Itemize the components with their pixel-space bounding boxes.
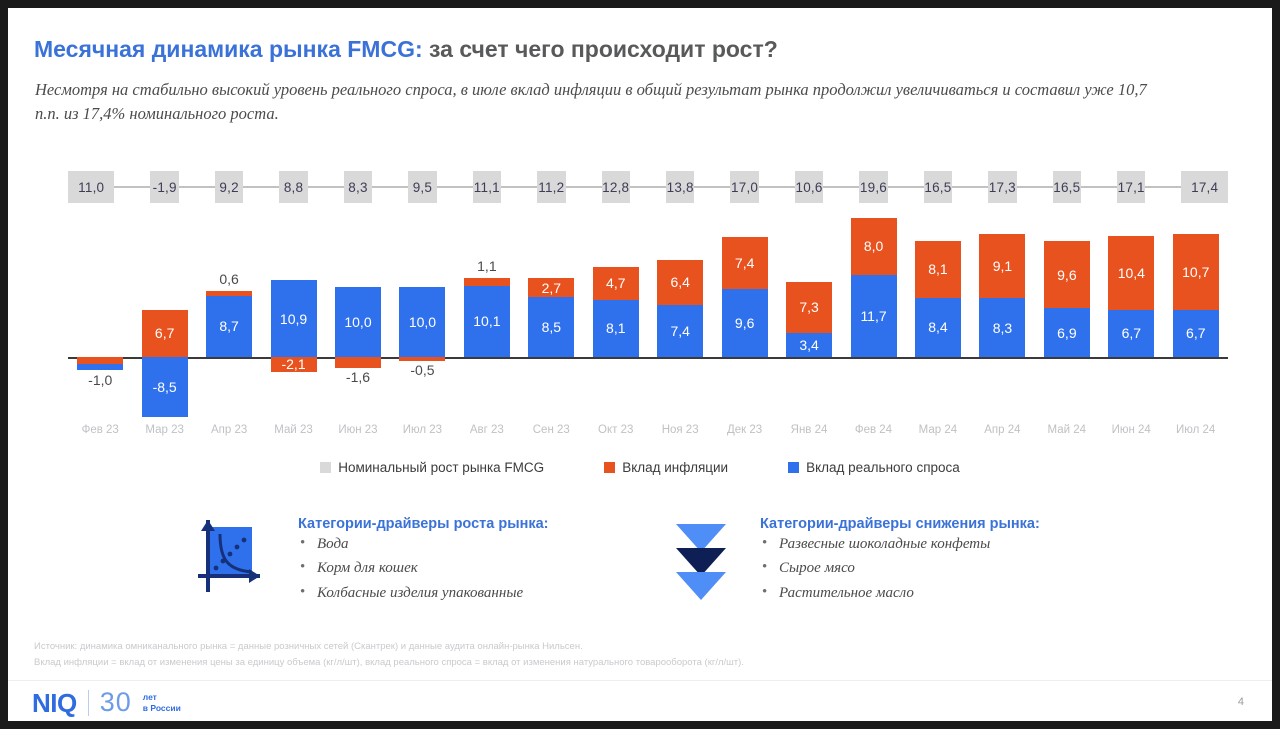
inflation-segment-label: -2,1 [281, 357, 305, 371]
legend-swatch-icon [320, 462, 331, 473]
inflation-segment [399, 357, 445, 361]
footer-divider [8, 680, 1272, 681]
real-demand-segment: 8,7 [206, 296, 252, 357]
inflation-segment-label: 6,4 [670, 275, 689, 289]
inflation-segment-label: 9,1 [993, 259, 1012, 273]
list-item: Сырое мясо [760, 556, 1040, 580]
real-demand-segment-label: 8,3 [993, 321, 1012, 335]
logo-divider [88, 690, 89, 716]
bar-column: 7,46,4 [648, 213, 712, 413]
inflation-segment: 7,3 [786, 282, 832, 333]
nominal-growth-box: 19,6 [859, 171, 887, 203]
stacked-bar-chart: -1,06,7-8,58,70,610,9-2,110,0-1,610,0-0,… [68, 213, 1228, 413]
nominal-growth-box: -1,9 [150, 171, 178, 203]
legend-item[interactable]: Вклад инфляции [604, 460, 728, 475]
x-axis-label: Май 24 [1035, 424, 1099, 436]
x-axis-label: Июл 24 [1163, 424, 1227, 436]
nominal-connector [132, 186, 150, 188]
chart-legend: Номинальный рост рынка FMCGВклад инфляци… [8, 460, 1272, 475]
inflation-outside-label: 0,6 [219, 272, 238, 286]
bar-stack: 8,39,1 [979, 213, 1025, 413]
x-axis-labels: Фев 23Мар 23Апр 23Май 23Июн 23Июл 23Авг … [68, 424, 1228, 436]
nominal-growth-box: 8,8 [279, 171, 307, 203]
legend-label: Вклад инфляции [622, 460, 728, 475]
nominal-growth-box: 8,3 [344, 171, 372, 203]
bar-column: 6,710,4 [1099, 213, 1163, 413]
x-axis-label: Июн 24 [1099, 424, 1163, 436]
nominal-connector [648, 186, 666, 188]
nominal-growth-box: 11,0 [68, 171, 114, 203]
legend-item[interactable]: Вклад реального спроса [788, 460, 960, 475]
nominal-connector [1163, 186, 1181, 188]
real-demand-segment [77, 364, 123, 370]
anniversary-caption-line-2: в России [143, 703, 181, 713]
bar-column: 8,39,1 [970, 213, 1034, 413]
decline-drivers-list: Развесные шоколадные конфетыСырое мясоРа… [760, 532, 1040, 605]
real-demand-segment: 9,6 [722, 289, 768, 357]
real-demand-segment-label: 8,5 [542, 320, 561, 334]
nominal-connector [759, 186, 777, 188]
bar-stack: 8,48,1 [915, 213, 961, 413]
growth-drivers-list: ВодаКорм для кошекКолбасные изделия упак… [298, 532, 549, 605]
inflation-segment: 8,1 [915, 241, 961, 298]
nominal-connector [841, 186, 859, 188]
x-axis-label: Авг 23 [455, 424, 519, 436]
inflation-outside-label: 1,1 [477, 259, 496, 273]
bar-column: -1,0 [68, 213, 132, 413]
nominal-connector [694, 186, 712, 188]
x-axis-label: Май 23 [261, 424, 325, 436]
anniversary-number: 30 [100, 689, 132, 716]
real-demand-segment: 10,0 [399, 287, 445, 358]
bar-column: 11,78,0 [841, 213, 905, 413]
legend-swatch-icon [604, 462, 615, 473]
nominal-connector [308, 186, 326, 188]
real-demand-segment-label: 10,1 [473, 314, 500, 328]
real-demand-segment-label: 10,9 [280, 312, 307, 326]
real-demand-segment: 8,4 [915, 298, 961, 357]
nominal-growth-box: 17,4 [1181, 171, 1227, 203]
real-demand-segment-label: 9,6 [735, 316, 754, 330]
inflation-segment-label: 10,4 [1118, 266, 1145, 280]
nominal-connector [261, 186, 279, 188]
real-demand-segment: 8,3 [979, 298, 1025, 357]
inflation-segment [464, 278, 510, 286]
bar-stack: 10,1 [464, 213, 510, 413]
inflation-segment [77, 357, 123, 364]
real-demand-segment-label: 6,9 [1057, 326, 1076, 340]
legend-swatch-icon [788, 462, 799, 473]
niq-wordmark: NIQ [32, 690, 77, 716]
nominal-connector [390, 186, 408, 188]
x-axis-label: Апр 23 [197, 424, 261, 436]
nominal-connector [114, 186, 132, 188]
bar-column: 8,70,6 [197, 213, 261, 413]
bar-column: 8,14,7 [584, 213, 648, 413]
bar-stack: 8,7 [206, 213, 252, 413]
x-axis-label: Сен 23 [519, 424, 583, 436]
nominal-connector [712, 186, 730, 188]
nominal-connector [372, 186, 390, 188]
bar-column: 8,52,7 [519, 213, 583, 413]
nominal-connector [197, 186, 215, 188]
anniversary-caption-line-1: лет [143, 692, 157, 702]
real-demand-segment-label: 10,0 [344, 315, 371, 329]
real-demand-segment-label: 8,4 [928, 320, 947, 334]
bar-column: 6,7-8,5 [132, 213, 196, 413]
inflation-outside-label: -1,6 [346, 370, 370, 384]
real-demand-segment-label: 6,7 [1186, 326, 1205, 340]
x-axis-label: Июн 23 [326, 424, 390, 436]
real-demand-segment: 6,7 [1108, 310, 1154, 357]
inflation-segment [206, 291, 252, 295]
bar-stack: 6,7-8,5 [142, 213, 188, 413]
bar-stack: 8,52,7 [528, 213, 574, 413]
real-demand-segment: 10,1 [464, 286, 510, 357]
page-title-highlight: Месячная динамика рынка FMCG: [34, 36, 423, 62]
inflation-segment-label: 6,7 [155, 326, 174, 340]
nominal-growth-box: 9,5 [408, 171, 436, 203]
nominal-connector [952, 186, 970, 188]
nominal-growth-box: 16,5 [924, 171, 952, 203]
bar-stack: 9,67,4 [722, 213, 768, 413]
nominal-growth-box: 16,5 [1053, 171, 1081, 203]
legend-label: Номинальный рост рынка FMCG [338, 460, 544, 475]
bar-column: 6,99,6 [1035, 213, 1099, 413]
decline-drivers-title: Категории-драйверы снижения рынка: [760, 516, 1040, 532]
inflation-segment: 9,1 [979, 234, 1025, 298]
nominal-connector [906, 186, 924, 188]
inflation-segment: 10,4 [1108, 236, 1154, 309]
nominal-connector [1145, 186, 1163, 188]
inflation-segment [335, 357, 381, 368]
nominal-connector [823, 186, 841, 188]
nominal-connector [455, 186, 473, 188]
real-demand-segment-label: -8,5 [153, 380, 177, 394]
footnote: Источник: динамика омниканального рынка … [34, 639, 1234, 670]
bar-column: 10,9-2,1 [261, 213, 325, 413]
x-axis-label: Апр 24 [970, 424, 1034, 436]
nominal-growth-box: 11,2 [537, 171, 565, 203]
anniversary-caption: лет в России [143, 692, 181, 714]
inflation-segment: 9,6 [1044, 241, 1090, 309]
nominal-connector [501, 186, 519, 188]
nominal-growth-box: 10,6 [795, 171, 823, 203]
footnote-line-1: Источник: динамика омниканального рынка … [34, 639, 1234, 655]
list-item: Вода [298, 532, 549, 556]
inflation-segment-label: 8,0 [864, 239, 883, 253]
nominal-connector [326, 186, 344, 188]
bar-stack: 8,14,7 [593, 213, 639, 413]
nominal-growth-box: 17,1 [1117, 171, 1145, 203]
nominal-connector [1017, 186, 1035, 188]
bar-column: 8,48,1 [906, 213, 970, 413]
x-axis-label: Июл 23 [390, 424, 454, 436]
x-axis-label: Янв 24 [777, 424, 841, 436]
nominal-connector [970, 186, 988, 188]
real-demand-segment: 3,4 [786, 333, 832, 357]
bar-stack: 6,99,6 [1044, 213, 1090, 413]
nominal-connector [243, 186, 261, 188]
nominal-connector [437, 186, 455, 188]
inflation-segment-label: 2,7 [542, 281, 561, 295]
real-demand-segment: 11,7 [851, 275, 897, 357]
bar-stack: 7,46,4 [657, 213, 703, 413]
nominal-growth-box: 9,2 [215, 171, 243, 203]
real-demand-segment-label: 7,4 [670, 324, 689, 338]
nominal-connector [1081, 186, 1099, 188]
inflation-outside-label: -0,5 [410, 363, 434, 377]
list-item: Колбасные изделия упакованные [298, 581, 549, 605]
page-number: 4 [1238, 696, 1244, 708]
x-axis-label: Фев 24 [841, 424, 905, 436]
nominal-connector [630, 186, 648, 188]
nominal-growth-box: 17,3 [988, 171, 1016, 203]
bar-column: 6,710,7 [1164, 213, 1228, 413]
legend-item[interactable]: Номинальный рост рынка FMCG [320, 460, 544, 475]
real-demand-segment-label: 11,7 [860, 309, 886, 323]
inflation-segment: 2,7 [528, 278, 574, 297]
inflation-segment-label: 7,3 [799, 300, 818, 314]
real-demand-segment: 7,4 [657, 305, 703, 357]
real-demand-segment: 6,9 [1044, 308, 1090, 357]
growth-chart-icon [190, 514, 270, 603]
inflation-segment: 8,0 [851, 218, 897, 274]
bar-stack: 10,0 [399, 213, 445, 413]
nominal-connector [1035, 186, 1053, 188]
inflation-segment: 4,7 [593, 267, 639, 300]
real-demand-segment-label: 3,4 [799, 338, 818, 352]
list-item: Развесные шоколадные конфеты [760, 532, 1040, 556]
real-demand-segment: -8,5 [142, 357, 188, 417]
niq-logo: NIQ 30 лет в России [32, 689, 181, 716]
inflation-segment: 7,4 [722, 237, 768, 289]
nominal-growth-box: 17,0 [730, 171, 758, 203]
footnote-line-2: Вклад инфляции = вклад от изменения цены… [34, 655, 1234, 671]
slide: Месячная динамика рынка FMCG: за счет че… [8, 8, 1272, 721]
bar-stack: 3,47,3 [786, 213, 832, 413]
nominal-growth-row: 11,0-1,99,28,88,39,511,111,212,813,817,0… [68, 170, 1228, 204]
page-subtitle: Несмотря на стабильно высокий уровень ре… [35, 78, 1165, 127]
inflation-segment: 10,7 [1173, 234, 1219, 309]
bar-stack: 6,710,7 [1173, 213, 1219, 413]
decline-drivers-block: Категории-драйверы снижения рынка: Разве… [760, 516, 1040, 605]
growth-drivers-title: Категории-драйверы роста рынка: [298, 516, 549, 532]
nominal-connector [777, 186, 795, 188]
inflation-segment: -2,1 [271, 357, 317, 372]
growth-drivers-block: Категории-драйверы роста рынка: ВодаКорм… [298, 516, 549, 605]
bar-stack: 6,710,4 [1108, 213, 1154, 413]
nominal-connector [888, 186, 906, 188]
list-item: Корм для кошек [298, 556, 549, 580]
x-axis-label: Мар 24 [906, 424, 970, 436]
nominal-growth-box: 11,1 [473, 171, 501, 203]
page-title: Месячная динамика рынка FMCG: за счет че… [34, 36, 778, 64]
bar-column: 10,0-0,5 [390, 213, 454, 413]
inflation-segment-label: 8,1 [928, 262, 947, 276]
inflation-segment-label: 4,7 [606, 276, 625, 290]
x-axis-label: Ноя 23 [648, 424, 712, 436]
bar-stack: 11,78,0 [851, 213, 897, 413]
x-axis-label: Фев 23 [68, 424, 132, 436]
real-demand-segment-label: 6,7 [1122, 326, 1141, 340]
inflation-segment-label: 10,7 [1182, 265, 1209, 279]
bar-column: 10,11,1 [455, 213, 519, 413]
real-demand-segment: 6,7 [1173, 310, 1219, 357]
nominal-growth-box: 13,8 [666, 171, 694, 203]
inflation-outside-label: -1,0 [88, 373, 112, 387]
inflation-segment: 6,4 [657, 260, 703, 305]
bar-column: 9,67,4 [712, 213, 776, 413]
page-title-rest: за счет чего происходит рост? [423, 36, 778, 62]
inflation-segment-label: 7,4 [735, 256, 754, 270]
inflation-segment-label: 9,6 [1057, 268, 1076, 282]
real-demand-segment: 10,9 [271, 280, 317, 357]
real-demand-segment-label: 10,0 [409, 315, 436, 329]
legend-label: Вклад реального спроса [806, 460, 960, 475]
x-axis-label: Мар 23 [132, 424, 196, 436]
real-demand-segment: 10,0 [335, 287, 381, 358]
real-demand-segment: 8,1 [593, 300, 639, 357]
bar-column: 10,0-1,6 [326, 213, 390, 413]
nominal-growth-box: 12,8 [602, 171, 630, 203]
bar-stack: 10,9-2,1 [271, 213, 317, 413]
list-item: Растительное масло [760, 581, 1040, 605]
x-axis-label: Окт 23 [584, 424, 648, 436]
nominal-connector [519, 186, 537, 188]
x-axis-label: Дек 23 [712, 424, 776, 436]
real-demand-segment-label: 8,7 [219, 319, 238, 333]
real-demand-segment-label: 8,1 [606, 321, 625, 335]
real-demand-segment: 8,5 [528, 297, 574, 357]
nominal-connector [584, 186, 602, 188]
nominal-connector [566, 186, 584, 188]
nominal-connector [1099, 186, 1117, 188]
bar-column: 3,47,3 [777, 213, 841, 413]
down-arrows-icon [670, 518, 732, 609]
inflation-segment: 6,7 [142, 310, 188, 357]
nominal-connector [179, 186, 197, 188]
